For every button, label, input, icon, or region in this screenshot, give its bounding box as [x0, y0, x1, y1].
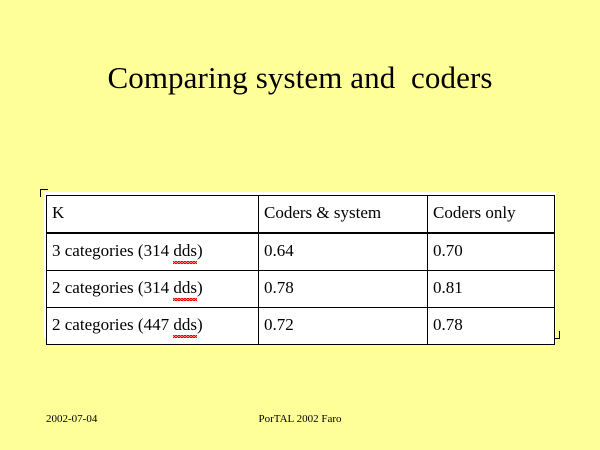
cell-coders-only: 0.81: [428, 271, 555, 308]
table-row: 2 categories (447 dds) 0.72 0.78: [47, 308, 555, 345]
table-row: 2 categories (314 dds) 0.78 0.81: [47, 271, 555, 308]
table-header-row: K Coders & system Coders only: [47, 196, 555, 234]
results-table: K Coders & system Coders only 3 categori…: [46, 195, 555, 345]
row-label: 2 categories (314 dds): [47, 271, 259, 308]
page-title: Comparing system and coders: [0, 58, 600, 98]
table-row: 3 categories (314 dds) 0.64 0.70: [47, 233, 555, 271]
cell-coders-only: 0.70: [428, 233, 555, 271]
cell-coders-only: 0.78: [428, 308, 555, 345]
column-header-coders-and-system: Coders & system: [259, 196, 428, 234]
row-label-suffix: ): [197, 315, 203, 334]
column-header-coders-only: Coders only: [428, 196, 555, 234]
column-header-k: K: [47, 196, 259, 234]
cell-coders-and-system: 0.64: [259, 233, 428, 271]
row-label-prefix: 3 categories (314: [52, 241, 173, 260]
row-label-prefix: 2 categories (314: [52, 278, 173, 297]
footer-conference: PorTAL 2002 Faro: [0, 412, 600, 426]
row-label-suffix: ): [197, 241, 203, 260]
row-label-misspelled-word: dds: [173, 277, 197, 299]
row-label: 2 categories (447 dds): [47, 308, 259, 345]
row-label-misspelled-word: dds: [173, 240, 197, 262]
cell-coders-and-system: 0.72: [259, 308, 428, 345]
cell-coders-and-system: 0.78: [259, 271, 428, 308]
slide: Comparing system and coders K Coders & s…: [0, 0, 600, 450]
row-label-misspelled-word: dds: [173, 314, 197, 336]
row-label: 3 categories (314 dds): [47, 233, 259, 271]
row-label-prefix: 2 categories (447: [52, 315, 173, 334]
row-label-suffix: ): [197, 278, 203, 297]
